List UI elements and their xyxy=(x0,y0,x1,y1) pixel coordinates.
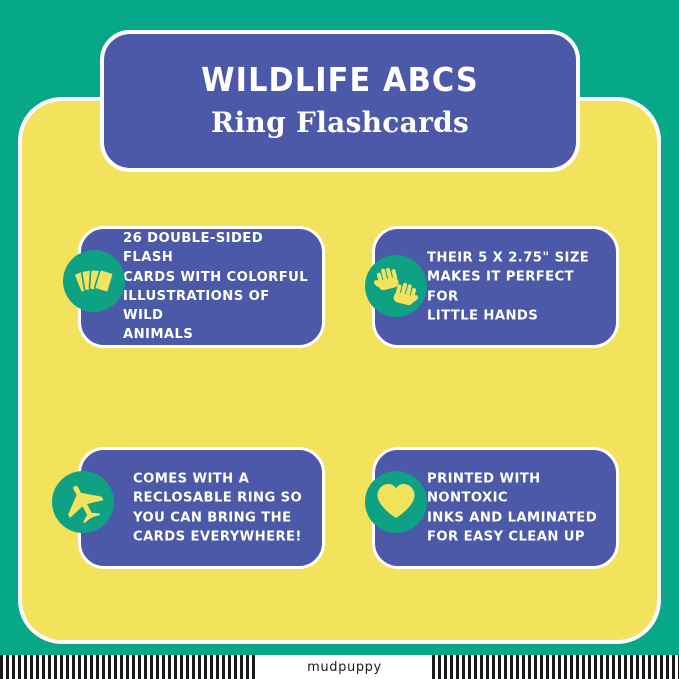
heart-icon xyxy=(365,471,427,533)
brand-logo-text: mudpuppy xyxy=(307,660,382,675)
page-title: WILDLIFE ABCS xyxy=(201,63,479,98)
flashcards-icon xyxy=(63,250,125,312)
feature-text-size: THEIR 5 X 2.75" SIZE MAKES IT PERFECT FO… xyxy=(427,248,608,325)
title-banner: WILDLIFE ABCS Ring Flashcards xyxy=(100,30,580,172)
product-feature-poster: WILDLIFE ABCS Ring Flashcards 26 DOUBLE-… xyxy=(0,0,679,679)
feature-text-nontoxic: PRINTED WITH NONTOXIC INKS AND LAMINATED… xyxy=(427,469,608,546)
hands-icon xyxy=(365,255,427,317)
feature-text-flashcards: 26 DOUBLE-SIDED FLASH CARDS WITH COLORFU… xyxy=(123,229,314,345)
feature-text-ring: COMES WITH A RECLOSABLE RING SO YOU CAN … xyxy=(133,469,314,546)
airplane-icon xyxy=(52,471,114,533)
brand-logo: mudpuppy xyxy=(258,655,431,679)
page-subtitle: Ring Flashcards xyxy=(211,107,469,139)
feature-card-ring: COMES WITH A RECLOSABLE RING SO YOU CAN … xyxy=(78,447,325,569)
